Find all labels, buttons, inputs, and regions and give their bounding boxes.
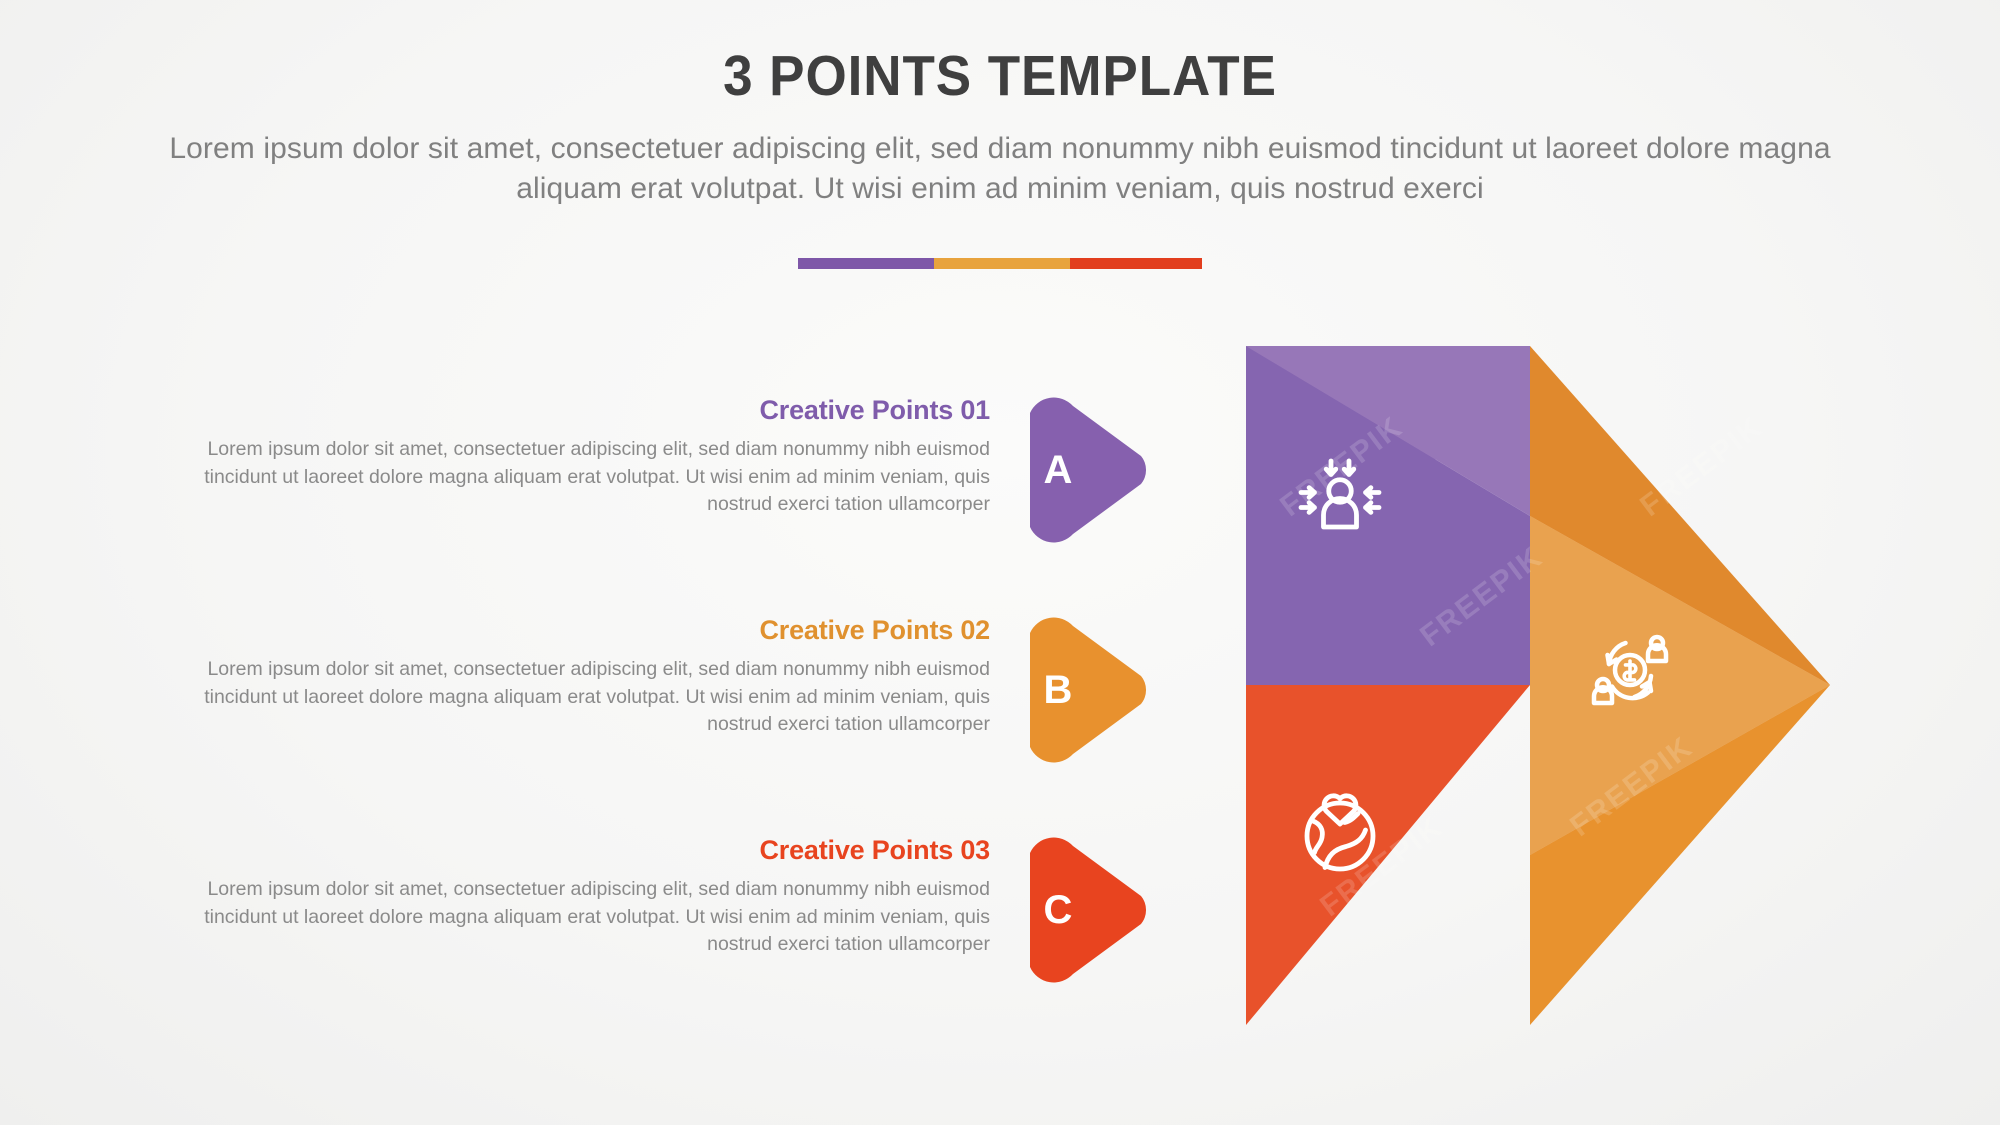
play-triangle-badge-a[interactable]: A <box>1000 395 1155 545</box>
divider-segment-purple <box>798 258 934 269</box>
play-triangle-shape-icon <box>1030 398 1146 543</box>
badge-slot-a: A <box>1000 395 1180 615</box>
point-block-02: Creative Points 02 Lorem ipsum dolor sit… <box>150 615 990 835</box>
point-body-02: Lorem ipsum dolor sit amet, consectetuer… <box>150 656 990 739</box>
page-title: 3 POINTS TEMPLATE <box>70 48 1930 105</box>
divider-segment-orange <box>934 258 1070 269</box>
play-triangle-shape-icon <box>1030 838 1146 983</box>
header: 3 POINTS TEMPLATE Lorem ipsum dolor sit … <box>0 48 2000 209</box>
badge-slot-c: C <box>1000 835 1180 1055</box>
play-triangle-badge-c[interactable]: C <box>1000 835 1155 985</box>
play-triangle-badge-b[interactable]: B <box>1000 615 1155 765</box>
point-heading-01: Creative Points 01 <box>150 395 990 426</box>
point-heading-02: Creative Points 02 <box>150 615 990 646</box>
point-block-01: Creative Points 01 Lorem ipsum dolor sit… <box>150 395 990 615</box>
point-body-03: Lorem ipsum dolor sit amet, consectetuer… <box>150 876 990 959</box>
point-heading-03: Creative Points 03 <box>150 835 990 866</box>
badge-slot-b: B <box>1000 615 1180 835</box>
arrow-triangle-graphic: FREEPIK FREEPIK FREEPIK FREEPIK FREEPIK <box>1230 330 1850 1050</box>
point-body-01: Lorem ipsum dolor sit amet, consectetuer… <box>150 436 990 519</box>
color-divider <box>798 258 1202 269</box>
play-triangle-shape-icon <box>1030 618 1146 763</box>
triangle-segment-red <box>1246 685 1530 1025</box>
infographic-canvas: 3 POINTS TEMPLATE Lorem ipsum dolor sit … <box>0 0 2000 1125</box>
letter-badges: A B C <box>1000 395 1180 1055</box>
page-subtitle: Lorem ipsum dolor sit amet, consectetuer… <box>140 129 1860 209</box>
divider-segment-red <box>1070 258 1202 269</box>
point-block-03: Creative Points 03 Lorem ipsum dolor sit… <box>150 835 990 1055</box>
points-list: Creative Points 01 Lorem ipsum dolor sit… <box>150 395 990 1055</box>
